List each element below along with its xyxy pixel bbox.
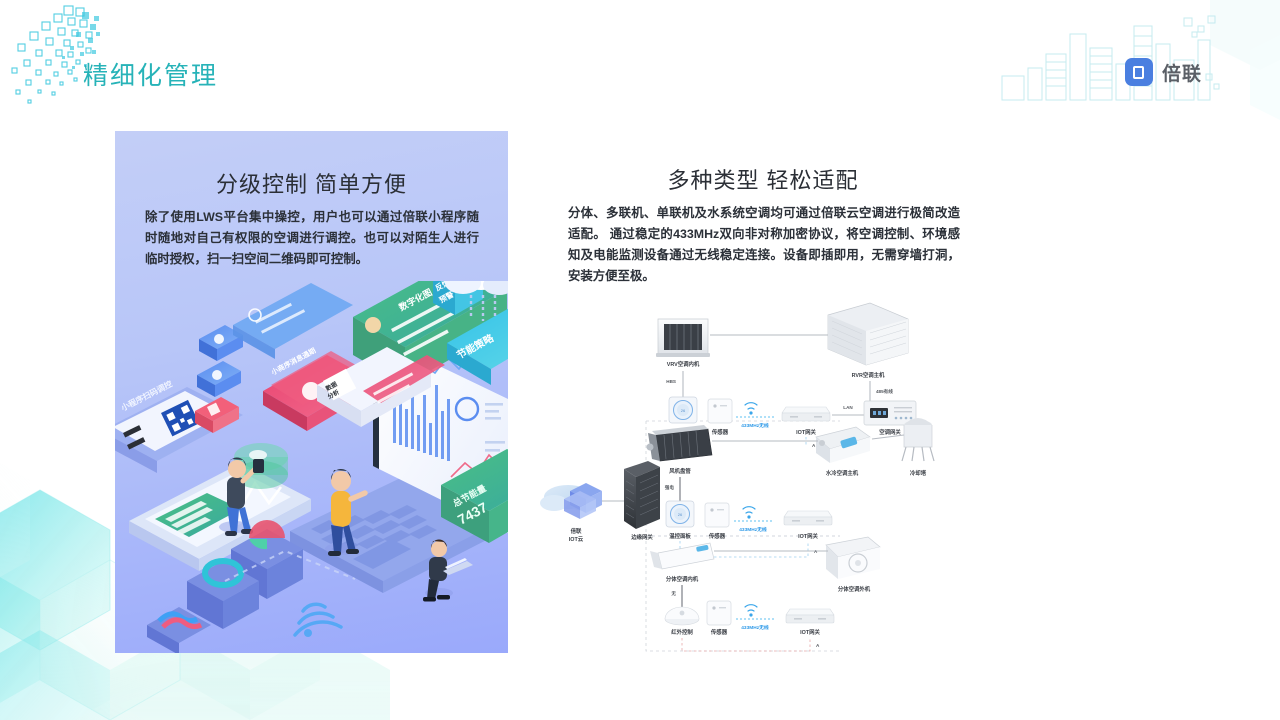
- label-wireless-3: 433MHz无线: [741, 624, 769, 631]
- label-split-outdoor: 分体空调外机: [838, 585, 871, 593]
- label-panel-2: 温控面板: [669, 532, 691, 540]
- label-lan: LAN: [843, 405, 853, 410]
- label-water-chiller: 水冷空调主机: [826, 469, 859, 477]
- brand-logo: 倍联: [1125, 58, 1202, 86]
- label-wireless-1: 433MHz无线: [741, 422, 769, 429]
- square-logo-icon: [1125, 58, 1153, 86]
- svg-text:26: 26: [678, 512, 683, 517]
- label-arrow-1: A: [812, 443, 816, 448]
- label-485: 485有线: [876, 388, 893, 395]
- label-hbs: HBS: [666, 379, 676, 384]
- label-split-link: 无: [670, 590, 676, 597]
- label-arrow-3: A: [816, 643, 820, 648]
- topology-row-split: 分体空调内机 分体空调外机 无 红外控制: [650, 537, 880, 651]
- page-header: 精细化管理 倍联: [0, 0, 1280, 118]
- right-column-title: 多种类型 轻松适配: [548, 163, 978, 195]
- label-vrv-indoor: VRV空调内机: [667, 360, 700, 368]
- right-feature-column: 多种类型 轻松适配 分体、多联机、单联机及水系统空调均可通过倍联云空调进行极简改…: [548, 131, 978, 661]
- page-title: 精细化管理: [83, 56, 218, 92]
- label-sensor-3: 传感器: [710, 628, 728, 636]
- svg-text:26: 26: [681, 408, 686, 413]
- label-cooling-tower: 冷却塔: [910, 469, 927, 477]
- label-wireless-2: 433MHz无线: [739, 526, 767, 533]
- right-column-body: 分体、多联机、单联机及水系统空调均可通过倍联云空调进行极简改造适配。 通过稳定的…: [568, 203, 960, 287]
- label-ir-controller: 红外控制: [671, 628, 693, 636]
- label-iot-gateway-1: IOT网关: [796, 428, 816, 436]
- label-cloud-sub: IOT云: [569, 536, 584, 543]
- left-card-title: 分级控制 简单方便: [115, 167, 508, 199]
- left-feature-card: 分级控制 简单方便 除了使用LWS平台集中操控，用户也可以通过倍联小程序随时随地…: [115, 131, 508, 653]
- label-sensor-2: 传感器: [708, 532, 726, 540]
- label-ac-gateway: 空调网关: [879, 428, 901, 436]
- label-sensor-1: 传感器: [711, 428, 729, 436]
- label-edge-gateway: 边缘网关: [630, 533, 653, 541]
- isometric-smart-control-illustration: 小程序扫码调控: [115, 281, 508, 653]
- label-strong-power: 强电: [665, 484, 675, 491]
- label-split-indoor: 分体空调内机: [666, 575, 699, 583]
- label-vrv-outdoor: RVR空调主机: [852, 371, 885, 379]
- brand-name: 倍联: [1162, 59, 1202, 86]
- label-iot-gateway-3: IOT网关: [800, 628, 820, 636]
- label-cloud: 倍联: [570, 527, 582, 535]
- topology-cloud-edge: 倍联 IOT云 边缘网关: [540, 461, 660, 543]
- network-topology-diagram: VRV空调内机 RVR空调主机 HBS 485有线: [540, 301, 980, 661]
- label-fancoil: 风机盘管: [669, 467, 691, 475]
- left-card-body: 除了使用LWS平台集中操控，用户也可以通过倍联小程序随时随地对自己有权限的空调进…: [145, 207, 479, 270]
- label-iot-gateway-2: IOT网关: [798, 532, 818, 540]
